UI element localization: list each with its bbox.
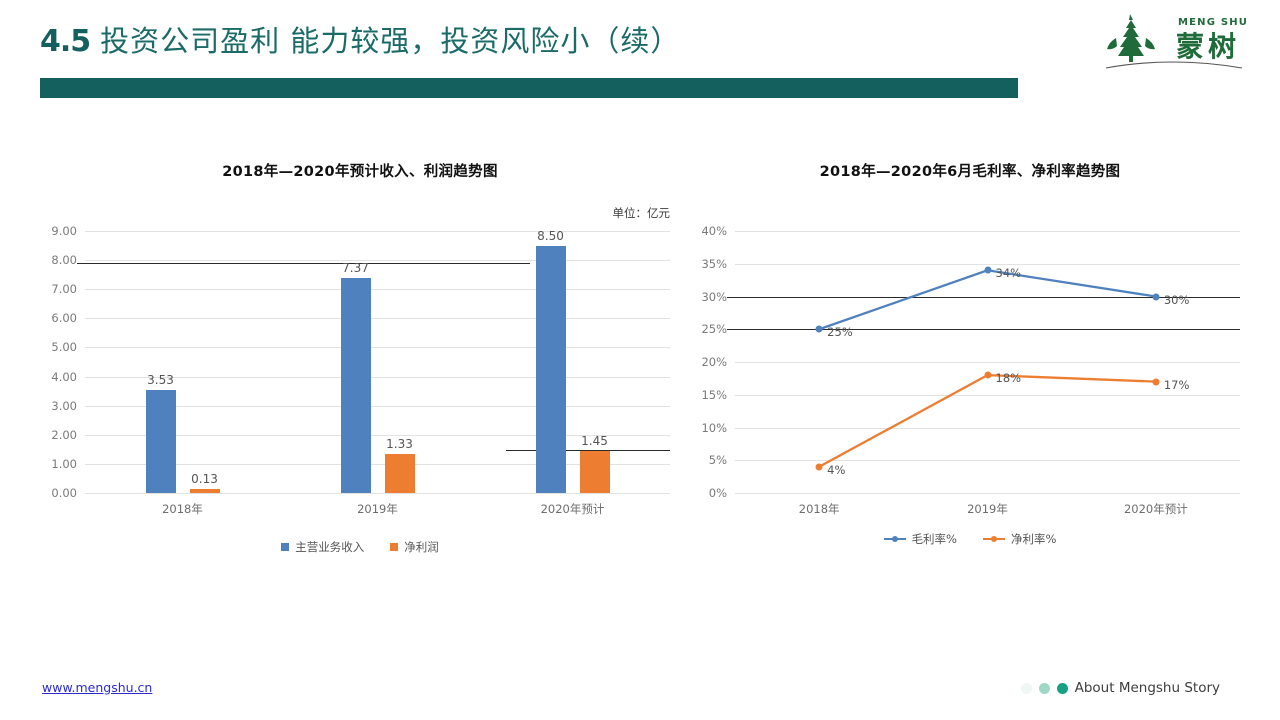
legend-item-revenue[interactable]: 主营业务收入 bbox=[281, 539, 364, 555]
point-value-label: 30% bbox=[1164, 293, 1190, 307]
point-value-label: 25% bbox=[827, 325, 853, 339]
y-axis-tick: 9.00 bbox=[40, 224, 77, 238]
x-axis-tick: 2019年 bbox=[357, 501, 398, 517]
bar-主营业务收入 bbox=[146, 390, 176, 493]
left-chart-panel: 2018年—2020年预计收入、利润趋势图 0.001.002.003.004.… bbox=[40, 120, 680, 555]
x-axis-tick: 2020年预计 bbox=[541, 501, 605, 517]
legend-label-revenue: 主营业务收入 bbox=[295, 539, 364, 555]
y-axis-tick: 4.00 bbox=[40, 370, 77, 384]
y-axis-tick: 0.00 bbox=[40, 486, 77, 500]
y-axis-tick: 3.00 bbox=[40, 399, 77, 413]
left-chart-plot: 0.001.002.003.004.005.006.007.008.009.00… bbox=[40, 203, 680, 523]
bar-主营业务收入 bbox=[536, 246, 566, 493]
data-point bbox=[816, 326, 823, 333]
legend-label-net-margin: 净利率% bbox=[1011, 531, 1056, 547]
gridline bbox=[85, 347, 670, 348]
gridline bbox=[85, 318, 670, 319]
right-chart-panel: 2018年—2020年6月毛利率、净利率趋势图 0%5%10%15%20%25%… bbox=[690, 120, 1250, 547]
right-chart-legend: 毛利率% 净利率% bbox=[690, 531, 1250, 547]
point-value-label: 18% bbox=[996, 371, 1022, 385]
left-chart-title: 2018年—2020年预计收入、利润趋势图 bbox=[40, 160, 680, 181]
data-point bbox=[984, 267, 991, 274]
line-series-svg bbox=[690, 203, 1250, 523]
mengshu-logo: MENG SHU 蒙树 bbox=[1092, 8, 1252, 74]
legend-item-netprofit[interactable]: 净利润 bbox=[390, 539, 439, 555]
bar-净利润 bbox=[190, 489, 220, 493]
y-axis-tick: 8.00 bbox=[40, 253, 77, 267]
data-point bbox=[984, 372, 991, 379]
y-axis-tick: 5.00 bbox=[40, 340, 77, 354]
dot-icon-2 bbox=[1039, 683, 1050, 694]
title-number: 4.5 bbox=[40, 24, 90, 59]
bar-value-label: 1.33 bbox=[386, 437, 413, 451]
legend-swatch-net-margin bbox=[983, 535, 1005, 543]
gridline bbox=[85, 289, 670, 290]
data-point bbox=[816, 463, 823, 470]
legend-swatch-netprofit bbox=[390, 543, 398, 551]
legend-item-net-margin[interactable]: 净利率% bbox=[983, 531, 1056, 547]
about-mengshu-story[interactable]: About Mengshu Story bbox=[1021, 680, 1220, 696]
bar-主营业务收入 bbox=[341, 278, 371, 493]
legend-label-netprofit: 净利润 bbox=[404, 539, 439, 555]
y-axis-tick: 2.00 bbox=[40, 428, 77, 442]
right-chart-title: 2018年—2020年6月毛利率、净利率趋势图 bbox=[690, 160, 1250, 181]
bar-净利润 bbox=[385, 454, 415, 493]
data-point bbox=[1152, 378, 1159, 385]
legend-swatch-gross-margin bbox=[884, 535, 906, 543]
annotation-line bbox=[77, 263, 530, 264]
logo-latin-text: MENG SHU bbox=[1178, 17, 1248, 28]
logo-chinese-text: 蒙树 bbox=[1176, 30, 1240, 63]
gridline bbox=[85, 260, 670, 261]
gridline bbox=[85, 231, 670, 232]
point-value-label: 34% bbox=[996, 266, 1022, 280]
bar-value-label: 0.13 bbox=[191, 472, 218, 486]
left-chart-legend: 主营业务收入 净利润 bbox=[40, 539, 680, 555]
page-title: 4.5 投资公司盈利 能力较强，投资风险小（续） bbox=[40, 18, 680, 60]
unit-label: 单位：亿元 bbox=[613, 205, 671, 221]
bar-净利润 bbox=[580, 451, 610, 493]
bar-value-label: 8.50 bbox=[537, 229, 564, 243]
legend-swatch-revenue bbox=[281, 543, 289, 551]
legend-label-gross-margin: 毛利率% bbox=[912, 531, 957, 547]
bar-value-label: 1.45 bbox=[581, 434, 608, 448]
point-value-label: 17% bbox=[1164, 378, 1190, 392]
slide: 4.5 投资公司盈利 能力较强，投资风险小（续） MENG SHU 蒙树 201… bbox=[0, 0, 1280, 720]
gridline bbox=[85, 493, 670, 494]
data-point bbox=[1152, 293, 1159, 300]
website-link[interactable]: www.mengshu.cn bbox=[42, 680, 152, 695]
about-label: About Mengshu Story bbox=[1075, 680, 1220, 696]
y-axis-tick: 7.00 bbox=[40, 282, 77, 296]
title-underline-bar bbox=[40, 78, 1018, 98]
legend-item-gross-margin[interactable]: 毛利率% bbox=[884, 531, 957, 547]
dot-icon-1 bbox=[1021, 683, 1032, 694]
title-text: 投资公司盈利 能力较强，投资风险小（续） bbox=[100, 18, 680, 60]
y-axis-tick: 6.00 bbox=[40, 311, 77, 325]
dot-icon-3 bbox=[1057, 683, 1068, 694]
logo-graphic: MENG SHU 蒙树 bbox=[1092, 8, 1252, 74]
y-axis-tick: 1.00 bbox=[40, 457, 77, 471]
bar-value-label: 7.37 bbox=[342, 261, 369, 275]
right-chart-plot: 0%5%10%15%20%25%30%35%40%2018年2019年2020年… bbox=[690, 203, 1250, 523]
bar-value-label: 3.53 bbox=[147, 373, 174, 387]
x-axis-tick: 2018年 bbox=[162, 501, 203, 517]
point-value-label: 4% bbox=[827, 463, 845, 477]
